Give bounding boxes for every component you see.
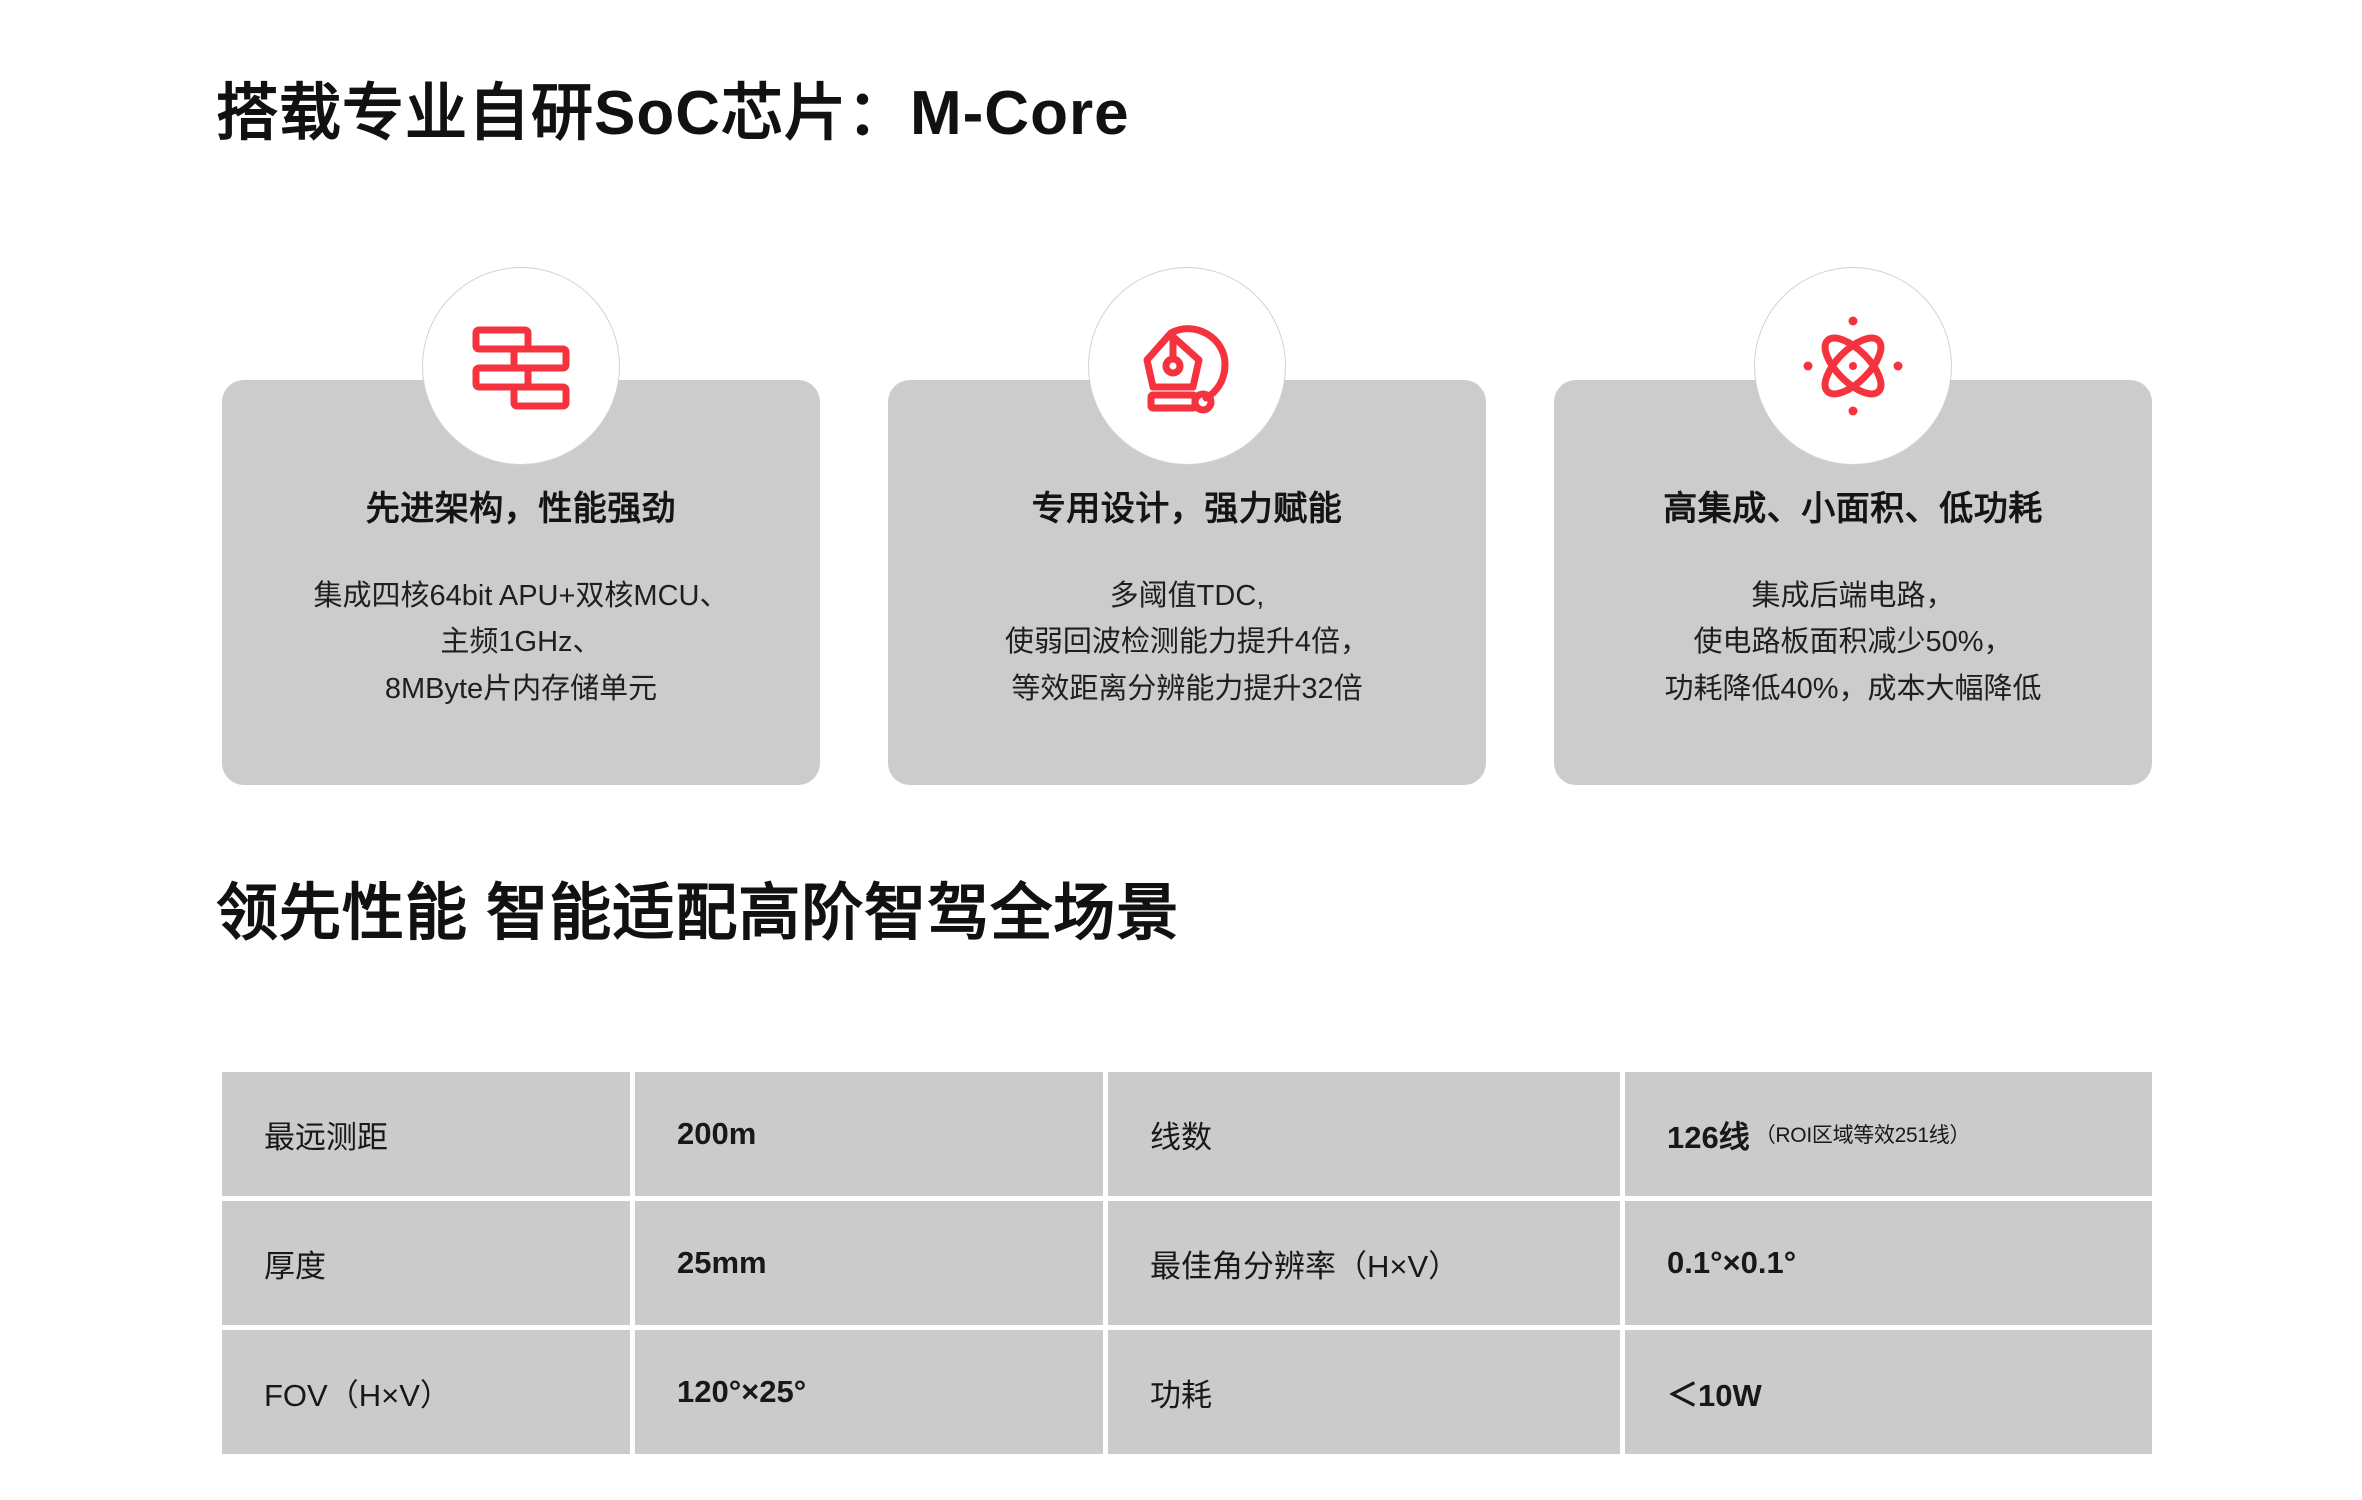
pen-nib-icon bbox=[1088, 267, 1286, 465]
feature-card-line: 主频1GHz、 bbox=[256, 619, 786, 666]
spec-value: 25mm bbox=[635, 1201, 1103, 1325]
feature-card-body: 集成四核64bit APU+双核MCU、 主频1GHz、 8MByte片内存储单… bbox=[256, 573, 786, 714]
atom-icon bbox=[1754, 267, 1952, 465]
spec-value: ＜10W bbox=[1625, 1330, 2152, 1454]
stacked-bricks-icon bbox=[422, 267, 620, 465]
spec-value-note: （ROI区域等效251线） bbox=[1755, 1119, 1970, 1149]
table-row: FOV（H×V） 120°×25° 功耗 ＜10W bbox=[222, 1330, 2152, 1454]
spec-value-text: 0.1°×0.1° bbox=[1667, 1245, 1796, 1281]
spec-value: 126线（ROI区域等效251线） bbox=[1625, 1072, 2152, 1196]
spec-value-text: ＜10W bbox=[1667, 1370, 1762, 1415]
feature-card-title: 高集成、小面积、低功耗 bbox=[1588, 488, 2118, 531]
feature-card-line: 多阈值TDC, bbox=[922, 573, 1452, 620]
spec-value-text: 126线 bbox=[1667, 1112, 1750, 1157]
feature-card: 高集成、小面积、低功耗 集成后端电路， 使电路板面积减少50%， 功耗降低40%… bbox=[1554, 380, 2152, 785]
feature-card: 专用设计，强力赋能 多阈值TDC, 使弱回波检测能力提升4倍， 等效距离分辨能力… bbox=[888, 380, 1486, 785]
table-row: 厚度 25mm 最佳角分辨率（H×V） 0.1°×0.1° bbox=[222, 1201, 2152, 1325]
table-row: 最远测距 200m 线数 126线（ROI区域等效251线） bbox=[222, 1072, 2152, 1196]
feature-card-title: 先进架构，性能强劲 bbox=[256, 488, 786, 531]
feature-card-title: 专用设计，强力赋能 bbox=[922, 488, 1452, 531]
spec-label: 最佳角分辨率（H×V） bbox=[1108, 1201, 1620, 1325]
feature-card-group: 先进架构，性能强劲 集成四核64bit APU+双核MCU、 主频1GHz、 8… bbox=[222, 380, 2152, 785]
spec-label: 线数 bbox=[1108, 1072, 1620, 1196]
feature-card-line: 集成四核64bit APU+双核MCU、 bbox=[256, 573, 786, 620]
feature-card-line: 使电路板面积减少50%， bbox=[1588, 619, 2118, 666]
page-title: 搭载专业自研SoC芯片：M-Core bbox=[216, 62, 1130, 152]
spec-label: 功耗 bbox=[1108, 1330, 1620, 1454]
spec-table: 最远测距 200m 线数 126线（ROI区域等效251线） 厚度 25mm 最… bbox=[222, 1072, 2152, 1454]
spec-value: 120°×25° bbox=[635, 1330, 1103, 1454]
spec-label: 最远测距 bbox=[222, 1072, 630, 1196]
slide-root: 搭载专业自研SoC芯片：M-Core 先进架构，性能强劲 集成四核64bit A… bbox=[0, 0, 2362, 1500]
feature-card-body: 多阈值TDC, 使弱回波检测能力提升4倍， 等效距离分辨能力提升32倍 bbox=[922, 573, 1452, 714]
spec-value: 0.1°×0.1° bbox=[1625, 1201, 2152, 1325]
feature-card: 先进架构，性能强劲 集成四核64bit APU+双核MCU、 主频1GHz、 8… bbox=[222, 380, 820, 785]
feature-card-line: 功耗降低40%，成本大幅降低 bbox=[1588, 666, 2118, 713]
spec-label: FOV（H×V） bbox=[222, 1330, 630, 1454]
feature-card-line: 等效距离分辨能力提升32倍 bbox=[922, 666, 1452, 713]
feature-card-line: 8MByte片内存储单元 bbox=[256, 666, 786, 713]
feature-card-line: 集成后端电路， bbox=[1588, 573, 2118, 620]
section-title: 领先性能 智能适配高阶智驾全场景 bbox=[216, 862, 1179, 952]
spec-value: 200m bbox=[635, 1072, 1103, 1196]
feature-card-body: 集成后端电路， 使电路板面积减少50%， 功耗降低40%，成本大幅降低 bbox=[1588, 573, 2118, 714]
feature-card-line: 使弱回波检测能力提升4倍， bbox=[922, 619, 1452, 666]
spec-label: 厚度 bbox=[222, 1201, 630, 1325]
